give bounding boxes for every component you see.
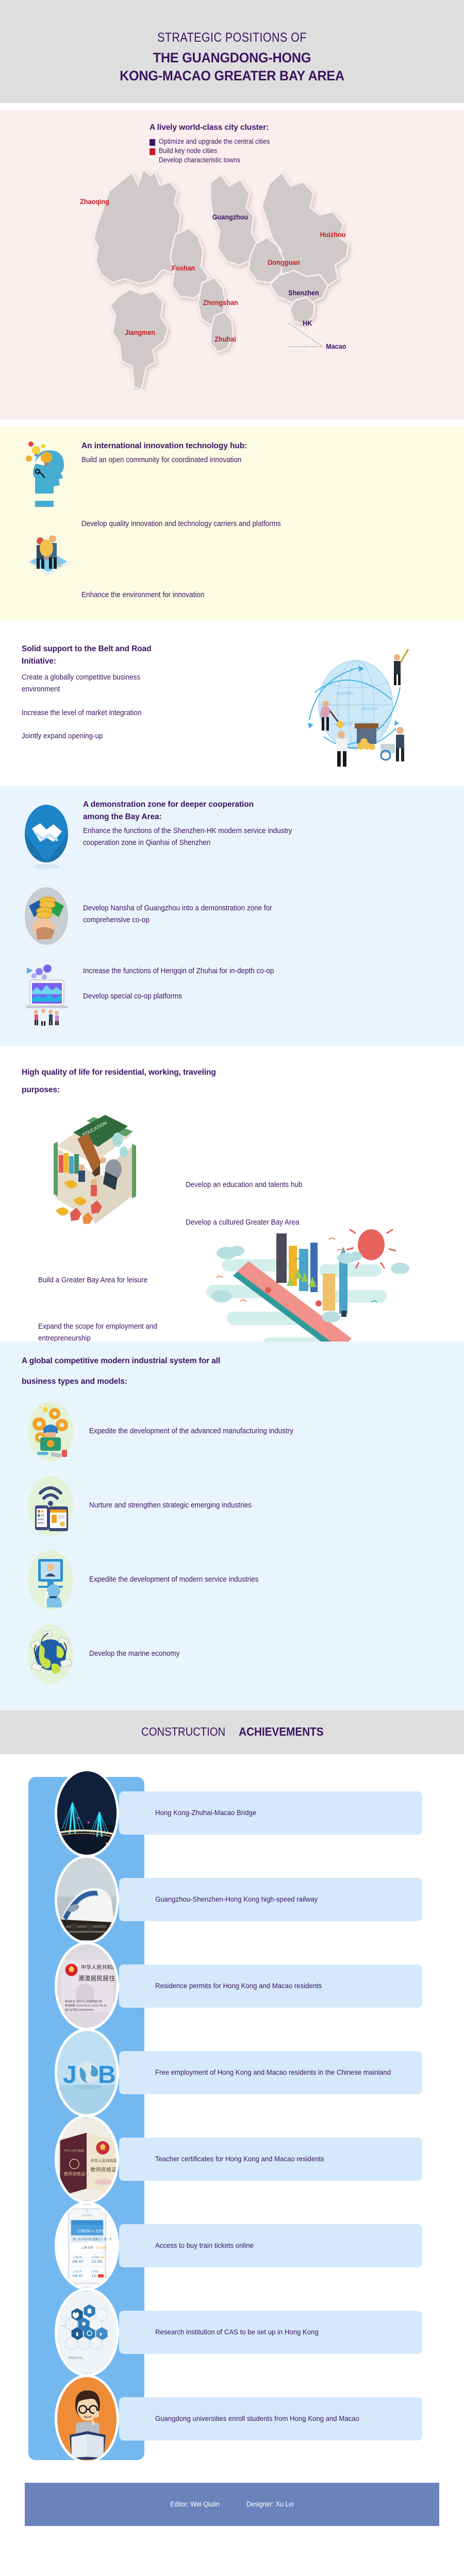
city-label-zhaoqing: Zhaoqing bbox=[80, 197, 109, 206]
belt-road-title-line1: Solid support to the Belt and Road bbox=[22, 643, 278, 655]
achievements-banner-bold: ACHIEVEMENTS bbox=[239, 1725, 324, 1739]
infographic-page: STRATEGIC POSITIONS OF THE GUANGDONG-HON… bbox=[0, 0, 464, 2538]
city-label-guangzhou: Guangzhou bbox=[212, 213, 248, 221]
legend-item-characteristic-towns: Develop characteristic towns bbox=[150, 156, 356, 164]
achievement-label: Research institution of CAS to be set up… bbox=[119, 2311, 422, 2354]
city-cluster-legend: A lively world-class city cluster: Optim… bbox=[150, 122, 356, 164]
innovation-item-2: Develop quality innovation and technolog… bbox=[81, 518, 288, 530]
demo-item-2: Develop Nansha of Guangzhou into a demon… bbox=[83, 903, 308, 927]
achievements-banner: CONSTRUCTION ACHIEVEMENTS bbox=[0, 1710, 464, 1754]
demo-text-block-3: Increase the functions of Hengqin of Zhu… bbox=[80, 960, 410, 1003]
city-cluster-title: A lively world-class city cluster: bbox=[150, 122, 356, 134]
achievement-item: Hong Kong-Zhuhai-Macao Bridge bbox=[0, 1770, 464, 1856]
svg-text:B: B bbox=[98, 2061, 116, 2089]
legend-label-characteristic-towns: Develop characteristic towns bbox=[159, 156, 240, 164]
svg-text:教师资格证书: 教师资格证书 bbox=[64, 2171, 90, 2176]
demo-item-1: Enhance the functions of the Shenzhen-HK… bbox=[83, 825, 304, 850]
belt-road-item-1: Create a globally competitive business e… bbox=[22, 672, 180, 696]
demo-zone-title-line2: among the Bay Area: bbox=[83, 811, 410, 823]
wifi-devices-icon bbox=[25, 1472, 79, 1539]
page-footer: Editor: Wei Qiulin Designer: Xu Lei bbox=[0, 2476, 464, 2538]
people-idea-tablet-icon bbox=[21, 518, 77, 580]
svg-text:教师资格证书: 教师资格证书 bbox=[90, 2166, 117, 2173]
demo-item-3: Increase the functions of Hengqin of Zhu… bbox=[83, 965, 299, 977]
innovation-hub-section: An international innovation technology h… bbox=[0, 427, 464, 620]
industrial-item-1: Expedite the development of the advanced… bbox=[89, 1426, 295, 1437]
industrial-text-1: Expedite the development of the advanced… bbox=[79, 1426, 399, 1437]
city-label-jiangmen: Jiangmen bbox=[125, 328, 155, 336]
header-kicker: STRATEGIC POSITIONS OF bbox=[32, 30, 432, 46]
spacer bbox=[0, 620, 464, 628]
svg-text:港澳居民居住证: 港澳居民居住证 bbox=[78, 1975, 117, 1982]
achievement-label: Free employment of Hong Kong and Macao r… bbox=[119, 2051, 422, 2094]
belt-road-title-line2: Initiative: bbox=[22, 655, 278, 668]
head-lightbulb-icon bbox=[21, 440, 77, 512]
belt-road-text-column: Solid support to the Belt and Road Initi… bbox=[0, 643, 278, 772]
svg-text:ICAL: ICAL bbox=[61, 2325, 67, 2327]
industrial-row-3: Expedite the development of modern servi… bbox=[0, 1547, 464, 1614]
svg-text:签发机关 北京市公安局西城分局: 签发机关 北京市公安局西城分局 bbox=[65, 1999, 102, 2003]
page-title-line1: THE GUANGDONG-HONG bbox=[16, 49, 448, 66]
quality-of-life-section: High quality of life for residential, wo… bbox=[0, 1053, 464, 1342]
industrial-row-2: Nurture and strengthen strategic emergin… bbox=[0, 1472, 464, 1539]
legend-swatch-red bbox=[150, 148, 155, 155]
laptop-chart-icon bbox=[21, 960, 80, 1027]
achievement-item: 上海虹桥 ⇌ 北京南 前一天 6月20日 星期五 ∨ 后一天 上海-北京 ¥23… bbox=[0, 2202, 464, 2289]
qol-title-line1: High quality of life for residential, wo… bbox=[0, 1066, 371, 1079]
achievement-label: Guangzhou-Shenzhen-Hong Kong high-speed … bbox=[119, 1878, 422, 1921]
svg-text:J: J bbox=[63, 2061, 77, 2089]
belt-road-item-3: Jointly expand opening-up bbox=[22, 731, 260, 742]
industrial-text-4: Develop the marine economy bbox=[79, 1648, 399, 1660]
qol-item-1: Develop an education and talents hub bbox=[186, 1179, 302, 1191]
svg-text:12:50: 12:50 bbox=[91, 2259, 103, 2264]
demo-row-2: Develop Nansha of Guangzhou into a demon… bbox=[0, 880, 464, 952]
city-label-hk: HK bbox=[303, 319, 312, 327]
industrial-system-section: A global competitive modern industrial s… bbox=[0, 1342, 464, 1710]
innovation-text-block-3: Enhance the environment for innovation bbox=[77, 589, 397, 601]
page-title-line2: KONG-MACAO GREATER BAY AREA bbox=[16, 67, 448, 84]
svg-text:01101001: 01101001 bbox=[336, 692, 354, 696]
student-reading-photo-icon bbox=[55, 2375, 119, 2463]
industrial-row-1: Expedite the development of the advanced… bbox=[0, 1398, 464, 1465]
innovation-row-1: An international innovation technology h… bbox=[0, 440, 464, 512]
innovation-item-1: Build an open community for coordinated … bbox=[81, 454, 283, 466]
industrial-item-2: Nurture and strengthen strategic emergin… bbox=[89, 1500, 295, 1512]
achievement-label: Residence permits for Hong Kong and Maca… bbox=[119, 1964, 422, 2008]
svg-text:¥230起: ¥230起 bbox=[96, 2246, 106, 2249]
city-label-macao: Macao bbox=[326, 342, 346, 350]
industrial-title-line1: A global competitive modern industrial s… bbox=[0, 1355, 382, 1367]
innovation-text-block-1: An international innovation technology h… bbox=[77, 440, 397, 467]
achievement-label: Guangdong universities enroll students f… bbox=[119, 2397, 422, 2441]
qol-item-2: Develop a cultured Greater Bay Area bbox=[186, 1217, 299, 1229]
achievement-item: Guangdong universities enroll students f… bbox=[0, 2376, 464, 2462]
innovation-row-3: Enhance the environment for innovation bbox=[0, 589, 464, 601]
legend-item-node-cities: Build key node cities bbox=[150, 147, 356, 155]
innovation-item-3: Enhance the environment for innovation bbox=[81, 589, 375, 601]
environment-icon bbox=[21, 589, 77, 600]
legend-swatch-none bbox=[150, 158, 155, 164]
achievement-label: Hong Kong-Zhuhai-Macao Bridge bbox=[119, 1791, 422, 1835]
achievements-list: Hong Kong-Zhuhai-Macao Bridge bbox=[0, 1770, 464, 2462]
svg-text:有效期限 2018.09.01-2023.08.31: 有效期限 2018.09.01-2023.08.31 bbox=[65, 2004, 107, 2007]
achievement-item: MEDICAL ICAL Research institution of CAS… bbox=[0, 2289, 464, 2376]
demo-row-3: Increase the functions of Hengqin of Zhu… bbox=[0, 960, 464, 1027]
svg-text:上海-北京: 上海-北京 bbox=[81, 2245, 94, 2249]
svg-text:10011010: 10011010 bbox=[361, 707, 378, 711]
globe-data-network-icon: 01101001 10011010 01010110 bbox=[278, 643, 449, 772]
spacer bbox=[0, 419, 464, 427]
qol-item-3: Build a Greater Bay Area for leisure bbox=[38, 1275, 158, 1286]
education-book-icon: EDUCATION bbox=[41, 1110, 155, 1228]
innovation-row-2: Develop quality innovation and technolog… bbox=[0, 518, 464, 580]
svg-text:中华人民共和国: 中华人民共和国 bbox=[64, 2148, 84, 2153]
achievement-item: J B Free employment of Hong Kong and Mac… bbox=[0, 2029, 464, 2116]
designer-credit: Designer: Xu Lei bbox=[246, 2500, 294, 2508]
svg-text:MEDICAL: MEDICAL bbox=[69, 2356, 84, 2360]
greater-bay-area-map: Zhaoqing Guangzhou Huizhou Foshan Donggu… bbox=[0, 168, 464, 390]
achievements-banner-light: CONSTRUCTION bbox=[141, 1725, 225, 1739]
service-agent-icon bbox=[25, 1547, 79, 1614]
city-label-shenzhen: Shenzhen bbox=[288, 289, 319, 297]
bridge-photo-icon bbox=[55, 1769, 119, 1857]
legend-swatch-purple bbox=[150, 139, 155, 146]
qol-title-line2: purposes: bbox=[0, 1084, 371, 1096]
demo-text-block-1: A demonstration zone for deeper cooperat… bbox=[80, 799, 410, 850]
city-label-zhongshan: Zhongshan bbox=[203, 298, 238, 307]
legend-label-node-cities: Build key node cities bbox=[159, 147, 217, 155]
belt-road-item-2: Increase the level of market integration bbox=[22, 707, 260, 719]
demo-row-1: A demonstration zone for deeper cooperat… bbox=[0, 799, 464, 875]
demo-zone-title-line1: A demonstration zone for deeper cooperat… bbox=[83, 799, 410, 811]
handshake-coins-icon bbox=[21, 880, 80, 952]
industrial-item-3: Expedite the development of modern servi… bbox=[89, 1574, 295, 1586]
svg-text:中华人民共和国: 中华人民共和国 bbox=[81, 1964, 117, 1971]
city-label-dongguan: Dongguan bbox=[268, 258, 300, 266]
industrial-text-2: Nurture and strengthen strategic emergin… bbox=[79, 1500, 399, 1512]
svg-text:通行证号码 000000000: 通行证号码 000000000 bbox=[65, 2008, 94, 2011]
residence-permit-photo-icon: 中华人民共和国 港澳居民居住证 签发机关 北京市公安局西城分局 有效期限 201… bbox=[55, 1942, 119, 2030]
legend-item-central-cities: Optimize and upgrade the central cities bbox=[150, 138, 356, 146]
achievement-label: Teacher certificates for Hong Kong and M… bbox=[119, 2138, 422, 2181]
achievement-item: 中华人民共和国 港澳居民居住证 签发机关 北京市公安局西城分局 有效期限 201… bbox=[0, 1943, 464, 2029]
belt-and-road-section: Solid support to the Belt and Road Initi… bbox=[0, 628, 464, 786]
achievement-item: Guangzhou-Shenzhen-Hong Kong high-speed … bbox=[0, 1856, 464, 1943]
industrial-title-line2: business types and models: bbox=[0, 1376, 382, 1388]
editor-credit: Editor: Wei Qiulin bbox=[170, 2500, 220, 2508]
innovation-text-block-2: Develop quality innovation and technolog… bbox=[77, 518, 397, 530]
research-hexagons-photo-icon: MEDICAL ICAL bbox=[55, 2288, 119, 2377]
city-label-foshan: Foshan bbox=[172, 264, 195, 272]
teacher-certificate-photo-icon: 中华人民共和国 教师资格证书 教师资格证书 中华人民共和国 bbox=[55, 2115, 119, 2204]
svg-text:08:47: 08:47 bbox=[72, 2273, 84, 2278]
svg-text:08:47: 08:47 bbox=[72, 2259, 84, 2264]
industrial-item-4: Develop the marine economy bbox=[89, 1648, 295, 1660]
city-cluster-section: A lively world-class city cluster: Optim… bbox=[0, 110, 464, 419]
spacer bbox=[0, 103, 464, 110]
achievements-section: Hong Kong-Zhuhai-Macao Bridge bbox=[0, 1754, 464, 2476]
innovation-hub-title: An international innovation technology h… bbox=[81, 440, 397, 452]
job-globe-photo-icon: J B bbox=[55, 2028, 119, 2117]
high-speed-train-photo-icon bbox=[55, 1855, 119, 1944]
phone-ticket-app-photo-icon: 上海虹桥 ⇌ 北京南 前一天 6月20日 星期五 ∨ 后一天 上海-北京 ¥23… bbox=[55, 2201, 119, 2290]
map-outline-shape bbox=[0, 168, 464, 390]
handshake-blue-icon bbox=[21, 799, 80, 875]
spacer bbox=[0, 1046, 464, 1053]
industrial-text-3: Expedite the development of modern servi… bbox=[79, 1574, 399, 1586]
demonstration-zone-section: A demonstration zone for deeper cooperat… bbox=[0, 786, 464, 1046]
demo-item-4: Develop special co-op platforms bbox=[83, 991, 387, 1003]
industrial-row-4: Develop the marine economy bbox=[0, 1621, 464, 1688]
globe-money-icon bbox=[25, 1621, 79, 1688]
achievement-label: Access to buy train tickets online bbox=[119, 2224, 422, 2267]
svg-text:中华人民共和国: 中华人民共和国 bbox=[90, 2158, 117, 2163]
achievement-item: 中华人民共和国 教师资格证书 教师资格证书 中华人民共和国 Teacher ce… bbox=[0, 2116, 464, 2202]
legend-label-central-cities: Optimize and upgrade the central cities bbox=[159, 138, 270, 145]
demo-text-block-2: Develop Nansha of Guangzhou into a demon… bbox=[80, 880, 410, 927]
credits-bar: Editor: Wei Qiulin Designer: Xu Lei bbox=[25, 2483, 439, 2526]
gears-worker-icon bbox=[25, 1398, 79, 1465]
city-label-zhuhai: Zhuhai bbox=[214, 335, 236, 343]
city-label-huizhou: Huizhou bbox=[320, 230, 346, 239]
svg-text:前一天 6月20日 星期五 ∨ 后一天: 前一天 6月20日 星期五 ∨ 后一天 bbox=[73, 2238, 111, 2241]
page-header: STRATEGIC POSITIONS OF THE GUANGDONG-HON… bbox=[0, 0, 464, 103]
svg-text:上海虹桥 ⇌ 北京南: 上海虹桥 ⇌ 北京南 bbox=[77, 2228, 106, 2233]
svg-text:¥668: ¥668 bbox=[98, 2256, 104, 2259]
